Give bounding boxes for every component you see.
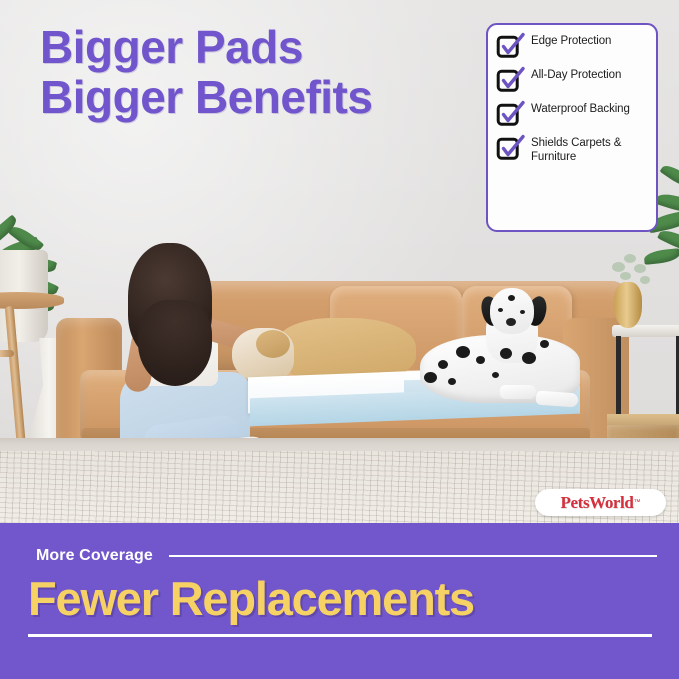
feature-label: Waterproof Backing [531,102,630,117]
banner-eyebrow: More Coverage [36,547,153,565]
page-title: Bigger Pads Bigger Benefits [40,22,372,122]
feature-list-card: Edge Protection All-Day Protection Water… [486,23,658,232]
banner-eyebrow-row: More Coverage [36,547,657,565]
checkbox-checked-icon [496,103,522,129]
headline-line-2: Bigger Benefits [40,72,372,122]
feature-item-shields-carpets-furniture: Shields Carpets & Furniture [496,136,648,164]
bottom-banner: More Coverage Fewer Replacements [0,523,679,679]
feature-label: All-Day Protection [531,68,621,83]
banner-top-rule [169,555,657,557]
checkbox-checked-icon [496,137,522,163]
feature-item-edge-protection: Edge Protection [496,34,648,61]
ad-creative-root: PetsWorld Bigger Pads Bigger Benefits Ed… [0,0,679,679]
feature-item-all-day-protection: All-Day Protection [496,68,648,95]
gold-vase [614,282,642,328]
feature-label: Shields Carpets & Furniture [531,136,648,164]
banner-bottom-rule [28,634,652,637]
feature-item-waterproof-backing: Waterproof Backing [496,102,648,129]
brand-badge: PetsWorld™ [535,489,666,516]
checkbox-checked-icon [496,35,522,61]
feature-label: Edge Protection [531,34,611,49]
banner-headline: Fewer Replacements [28,573,665,625]
trademark-symbol: ™ [633,499,640,506]
headline-line-1: Bigger Pads [40,21,303,73]
checkbox-checked-icon [496,69,522,95]
brand-name: PetsWorld [561,493,634,513]
